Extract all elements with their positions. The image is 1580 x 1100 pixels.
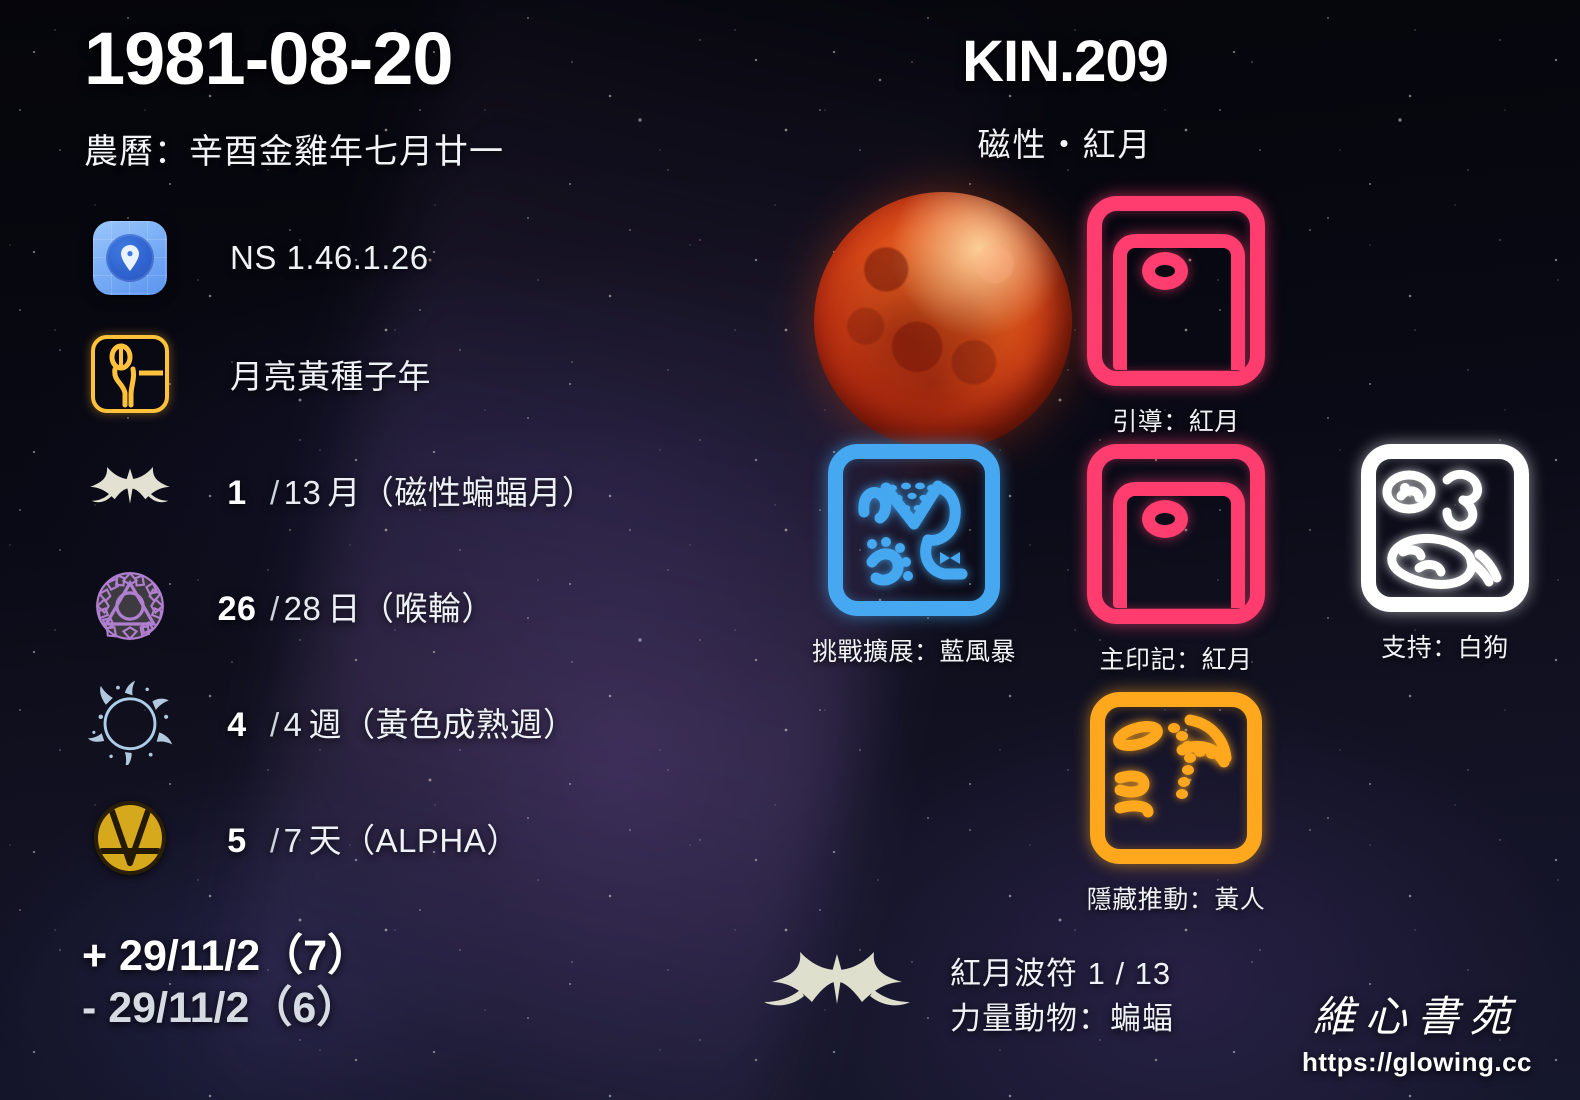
page-title-date: 1981-08-20 — [84, 22, 453, 96]
bat-ornament-icon — [78, 464, 182, 516]
glyph-cell-main-seal: 主印記：紅月 — [1056, 444, 1296, 676]
bat-ornament-footer-icon — [742, 950, 932, 1016]
row-day-chakra: 26/28日（喉輪） — [78, 548, 718, 664]
yellow-seed-glyph-icon — [78, 335, 182, 413]
minus-line: - 29/11/2（6） — [82, 982, 370, 1034]
moon-month-total: 13 — [284, 474, 322, 511]
left-info-rows: NS 1.46.1.26 月亮黃種子年 — [78, 200, 718, 896]
glyph-label-challenge: 挑戰擴展：藍風暴 — [792, 632, 1036, 668]
power-animal-line: 力量動物：蝙蝠 — [950, 997, 1174, 1042]
left-panel: 1981-08-20 農曆：辛酉金雞年七月廿一 NS 1.46.1.26 — [0, 0, 720, 1100]
brand-url[interactable]: https://glowing.cc — [1302, 1047, 1532, 1078]
week-total: 4 — [284, 706, 303, 743]
glyph-cell-guide: 引導：紅月 — [1056, 196, 1296, 438]
alpha-glyph-icon — [98, 805, 162, 871]
vishuddha-chakra-icon — [89, 565, 171, 647]
glyph-cell-challenge: 挑戰擴展：藍風暴 — [792, 444, 1036, 668]
glyph-cell-support: 支持：白狗 — [1330, 444, 1560, 664]
moon-month-detail: （磁性蝙蝠月） — [361, 474, 596, 511]
moon-month-text: 1/13月（磁性蝙蝠月） — [182, 466, 595, 514]
kin-title: KIN.209 — [720, 28, 1410, 95]
week-value: 4 — [208, 706, 266, 745]
glyph-label-guide: 引導：紅月 — [1056, 402, 1296, 438]
blue-storm-glyph-icon — [828, 444, 1000, 616]
water-splash-ring-icon — [87, 679, 173, 765]
brand-name-calligraphy: 維心書苑 — [1302, 995, 1532, 1041]
wavespell-line: 紅月波符 1 / 13 — [950, 952, 1174, 997]
seed-inner-icon — [95, 339, 165, 409]
week-text: 4/4週（黃色成熟週） — [182, 698, 577, 746]
row-moon-month: 1/13月（磁性蝙蝠月） — [78, 432, 718, 548]
plus-line: + 29/11/2（7） — [82, 930, 370, 982]
week-unit: 週 — [309, 706, 343, 743]
moon-month-unit: 月 — [327, 474, 361, 511]
throat-chakra-icon — [78, 565, 182, 647]
yellow-human-glyph-icon — [1090, 692, 1262, 864]
row-ns-code: NS 1.46.1.26 — [78, 200, 718, 316]
footer-text-block: 紅月波符 1 / 13 力量動物：蝙蝠 — [950, 952, 1174, 1042]
glyph-label-hidden: 隱藏推動：黃人 — [1056, 880, 1296, 916]
lunar-date-label: 農曆：辛酉金雞年七月廿一 — [84, 124, 504, 173]
glyph-cell-hidden: 隱藏推動：黃人 — [1056, 692, 1296, 916]
plasma-day-text: 5/7天（ALPHA） — [182, 814, 520, 862]
row-week: 4/4週（黃色成熟週） — [78, 664, 718, 780]
day-detail: （喉輪） — [361, 590, 495, 627]
dog-inner-icon — [1361, 444, 1529, 612]
glyph-label-main-seal: 主印記：紅月 — [1056, 640, 1296, 676]
pin-icon — [117, 243, 143, 273]
day-chakra-text: 26/28日（喉輪） — [182, 582, 495, 630]
ns-code-text: NS 1.46.1.26 — [182, 239, 429, 277]
day-total: 28 — [284, 590, 322, 627]
plasma-unit: 天 — [309, 822, 343, 859]
bat-wings-icon — [84, 464, 176, 516]
plasma-value: 5 — [208, 822, 266, 861]
glyph-label-support: 支持：白狗 — [1330, 628, 1560, 664]
storm-inner-icon — [828, 444, 1000, 616]
main-red-moon-glyph-icon — [1087, 444, 1265, 624]
day-value: 26 — [208, 590, 266, 629]
red-moon-glyph-icon — [1087, 196, 1265, 386]
plasma-total: 7 — [284, 822, 303, 859]
plus-minus-block: + 29/11/2（7） - 29/11/2（6） — [82, 930, 370, 1035]
row-plasma-day: 5/7天（ALPHA） — [78, 780, 718, 896]
blood-moon-image — [814, 192, 1072, 450]
alpha-plasma-icon — [78, 801, 182, 875]
year-sign-text: 月亮黃種子年 — [182, 350, 431, 398]
right-panel: KIN.209 磁性・紅月 引導：紅月 — [720, 0, 1580, 1100]
row-year-sign: 月亮黃種子年 — [78, 316, 718, 432]
human-inner-icon — [1090, 692, 1262, 864]
brand-block[interactable]: 維心書苑 https://glowing.cc — [1302, 995, 1532, 1078]
kin-subtitle: 磁性・紅月 — [720, 118, 1410, 166]
white-dog-glyph-icon — [1361, 444, 1529, 612]
day-unit: 日 — [327, 590, 361, 627]
moon-month-value: 1 — [208, 474, 266, 513]
water-ring-icon — [78, 679, 182, 765]
plasma-detail: （ALPHA） — [342, 822, 520, 859]
poster-canvas: 1981-08-20 農曆：辛酉金雞年七月廿一 NS 1.46.1.26 — [0, 0, 1580, 1100]
week-detail: （黃色成熟週） — [342, 706, 577, 743]
location-pin-app-icon — [78, 221, 182, 295]
